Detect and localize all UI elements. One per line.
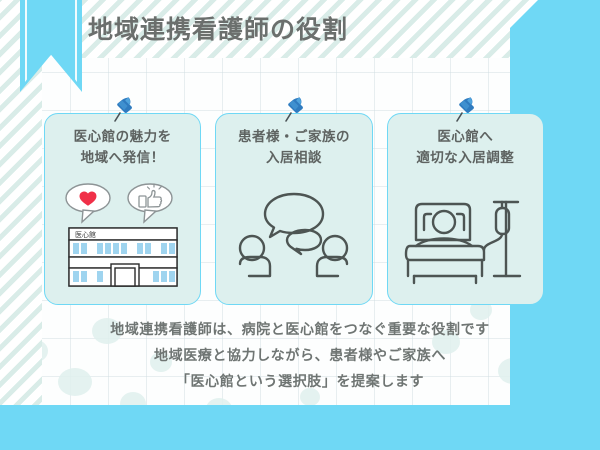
patient-bed-iv-drip-icon bbox=[402, 184, 528, 288]
card-list: 医心館の魅力を 地域へ発信！ bbox=[44, 113, 544, 305]
pushpin-icon bbox=[108, 94, 138, 122]
pushpin-icon bbox=[279, 94, 309, 122]
footer-line-2: 地域医療と協力しながら、患者様やご家族へ bbox=[0, 344, 600, 370]
card-consultation[interactable]: 患者様・ご家族の 入居相談 bbox=[215, 113, 372, 305]
card-title: 医心館へ 適切な入居調整 bbox=[416, 127, 514, 169]
card-artwork bbox=[388, 169, 543, 304]
bottom-accent-bar bbox=[0, 405, 600, 450]
pushpin-icon bbox=[450, 94, 480, 122]
footer-description: 地域連携看護師は、病院と医心館をつなぐ重要な役割です 地域医療と協力しながら、患… bbox=[0, 318, 600, 396]
card-title: 医心館の魅力を 地域へ発信！ bbox=[74, 127, 172, 169]
two-people-talking-icon bbox=[229, 188, 359, 284]
page-title: 地域連携看護師の役割 bbox=[88, 10, 348, 46]
card-promotion[interactable]: 医心館の魅力を 地域へ発信！ bbox=[44, 113, 201, 305]
building-sign-label: 医心館 bbox=[75, 230, 96, 239]
footer-line-3: 「医心館という選択肢」を提案します bbox=[0, 370, 600, 396]
slide-canvas: 地域連携看護師の役割 医心館の魅力を 地域へ発信！ bbox=[0, 0, 600, 450]
card-admission-coordination[interactable]: 医心館へ 適切な入居調整 bbox=[387, 113, 544, 305]
card-artwork: 医心館 bbox=[45, 169, 200, 304]
card-title: 患者様・ご家族の 入居相談 bbox=[238, 127, 350, 169]
card-artwork bbox=[216, 169, 371, 304]
building-with-speech-bubbles-icon: 医心館 bbox=[53, 182, 193, 290]
footer-line-1: 地域連携看護師は、病院と医心館をつなぐ重要な役割です bbox=[0, 318, 600, 344]
